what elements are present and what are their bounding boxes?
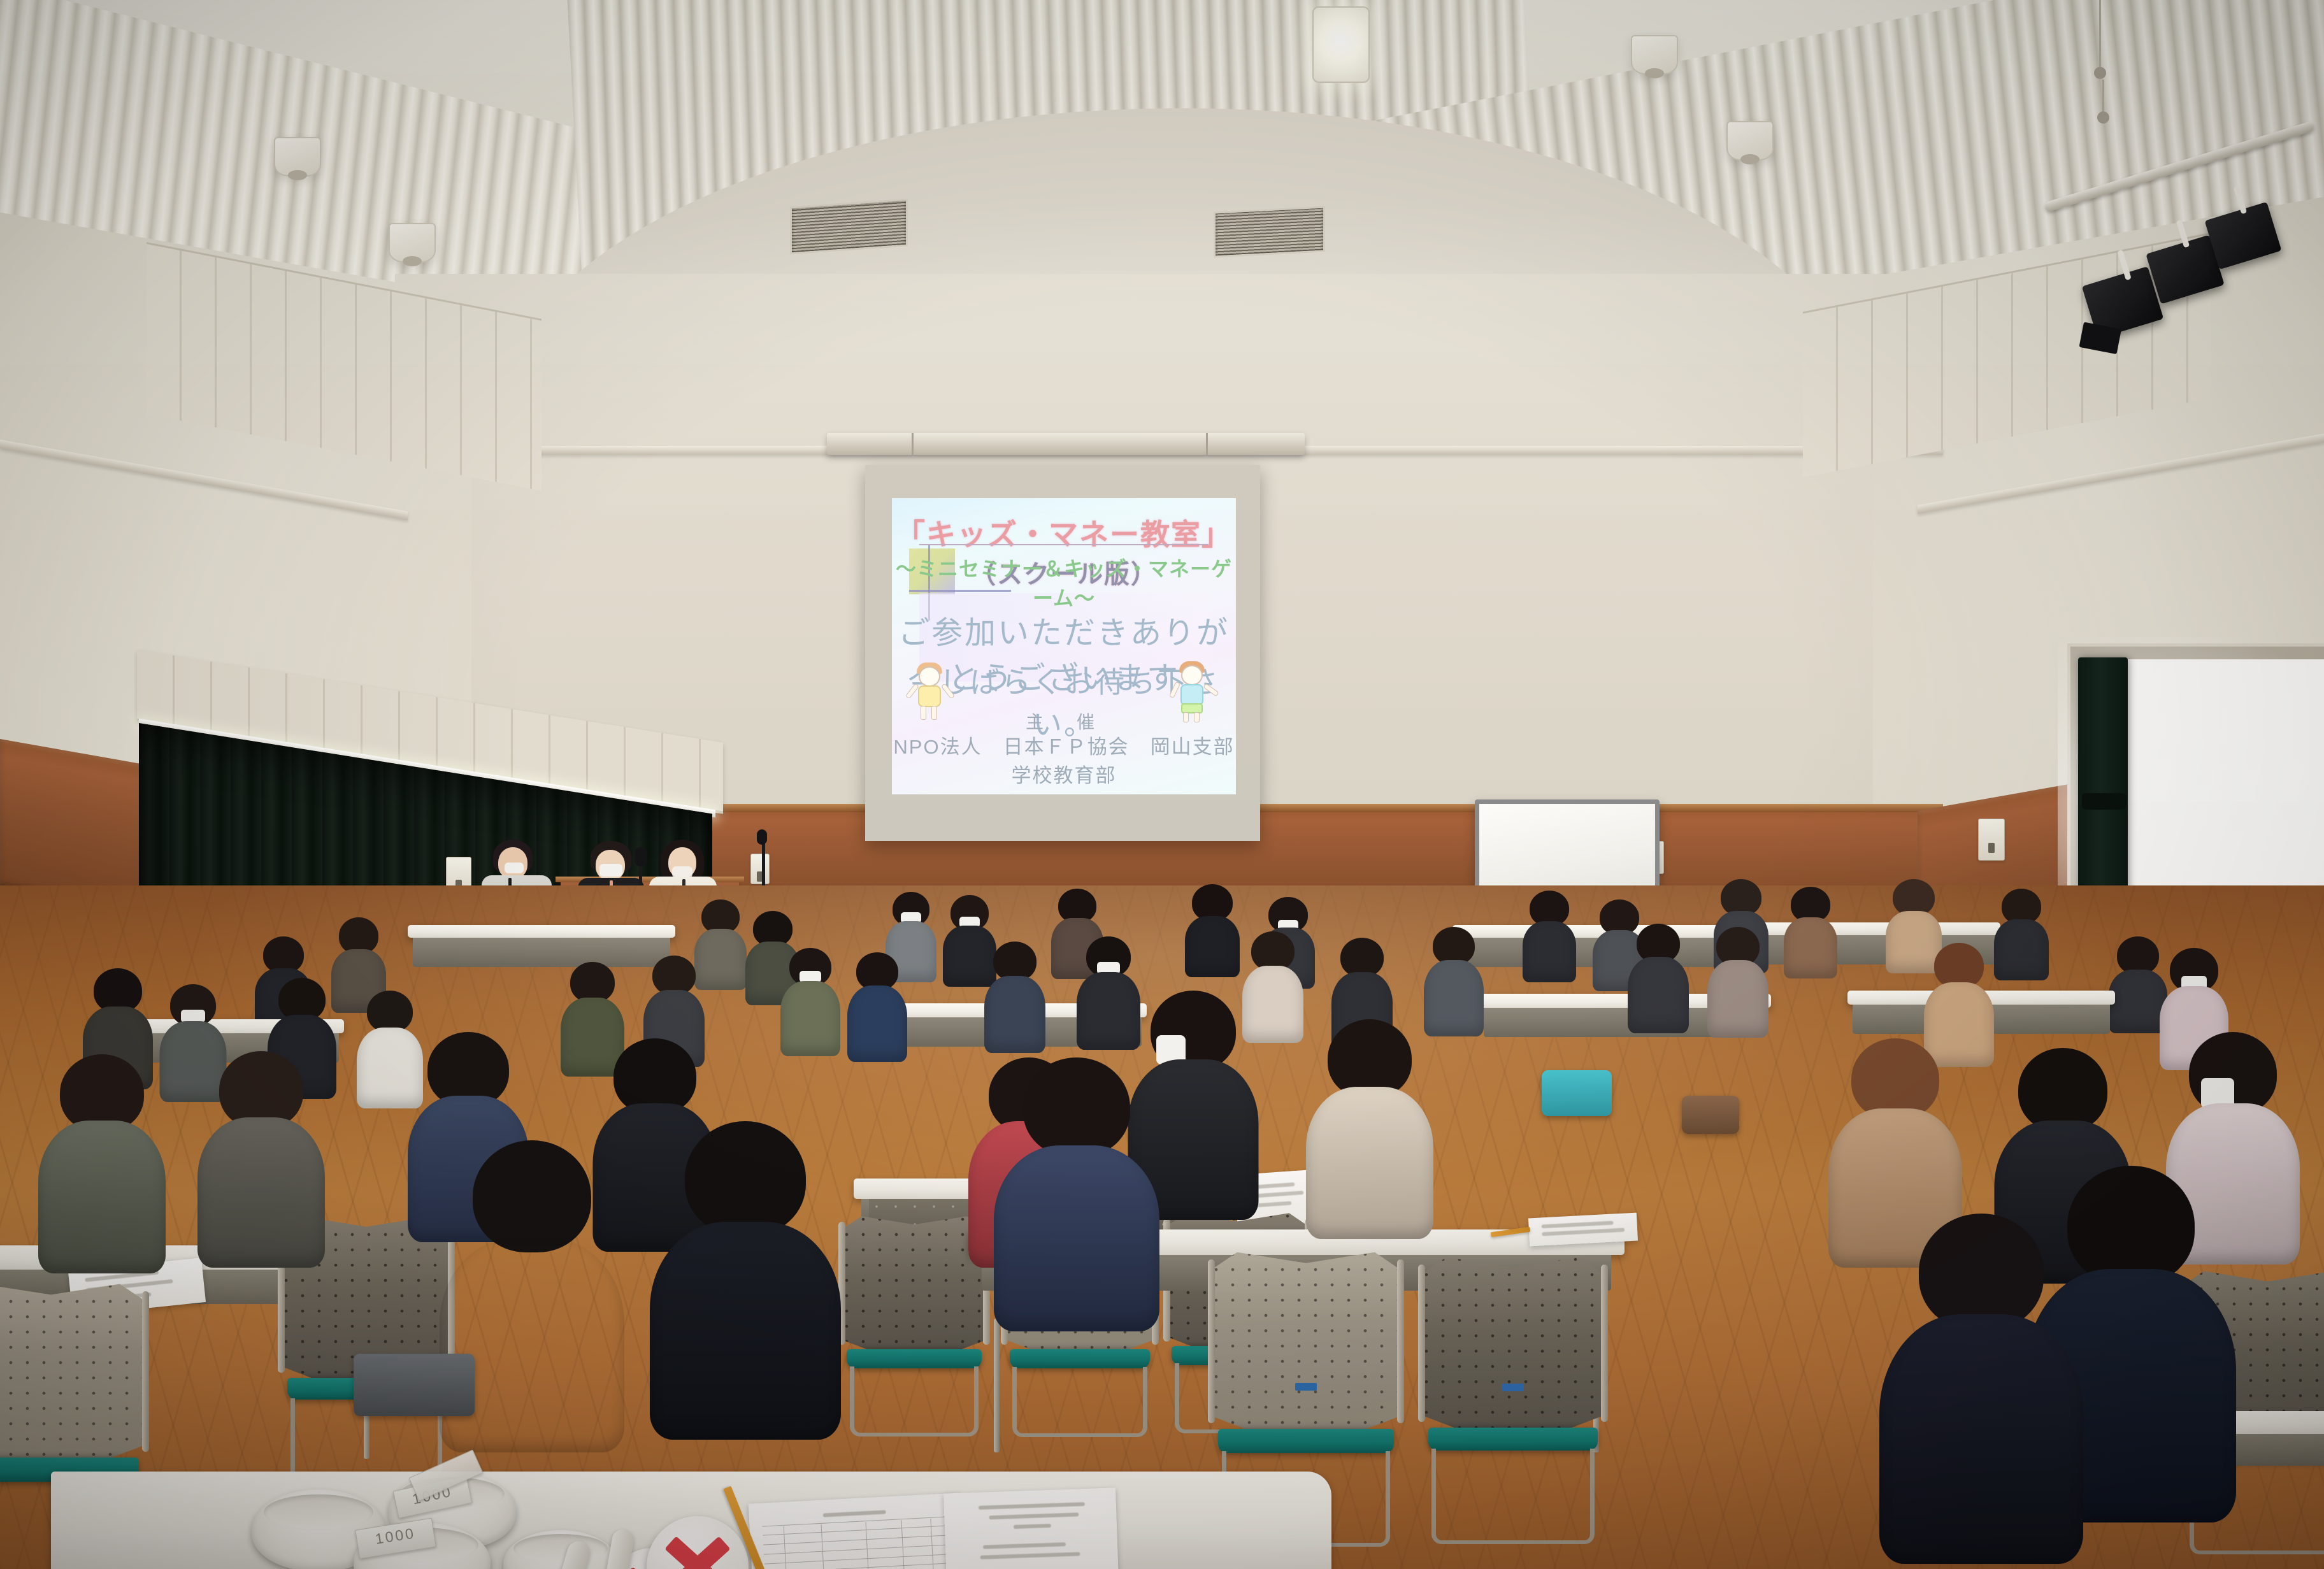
ceiling-hanger-rod <box>2102 80 2104 115</box>
slide-title-underline <box>919 544 1209 545</box>
face-mask <box>505 863 524 873</box>
curtain-tieback[interactable] <box>2082 793 2127 810</box>
slide-subtitle: ～ミニセミナー＆キッズ・マネーゲーム～ <box>892 553 1236 612</box>
chair[interactable] <box>1210 1249 1402 1430</box>
audience-member <box>994 1057 1159 1331</box>
audience-member <box>847 952 907 1062</box>
chair[interactable] <box>0 1280 147 1459</box>
bag <box>354 1354 475 1416</box>
microphone-stand <box>762 841 765 892</box>
bag <box>1682 1096 1739 1134</box>
ceiling-light-icon <box>1726 121 1774 161</box>
worksheet-ledger[interactable] <box>749 1493 966 1569</box>
audience-member <box>1185 884 1240 975</box>
bag <box>1542 1070 1612 1116</box>
audience-member <box>1306 1019 1433 1239</box>
seminar-table <box>408 925 675 938</box>
ceiling-light-icon <box>274 137 321 176</box>
worksheet-handout[interactable] <box>943 1487 1121 1569</box>
seminar-room-photo: 「キッズ・マネー教室」（スクール版） ～ミニセミナー＆キッズ・マネーゲーム～ ご… <box>0 0 2324 1569</box>
projection-screen: 「キッズ・マネー教室」（スクール版） ～ミニセミナー＆キッズ・マネーゲーム～ ご… <box>865 465 1260 841</box>
window-curtain[interactable] <box>2078 657 2128 899</box>
hvac-grille <box>1214 206 1325 257</box>
slide-host-organization: NPO法人 日本ＦＰ協会 岡山支部 学校教育部 <box>892 731 1236 788</box>
wall-plate[interactable] <box>750 854 770 884</box>
ceiling-light-icon <box>1312 6 1370 83</box>
hvac-grille <box>790 199 908 255</box>
audience-member <box>984 942 1045 1053</box>
audience-member <box>1784 887 1837 977</box>
microphone-icon <box>635 847 647 866</box>
audience-member <box>650 1121 841 1440</box>
microphone-icon <box>757 829 767 845</box>
whiteboard[interactable] <box>1475 799 1660 898</box>
ceiling-light-icon <box>389 223 436 262</box>
worksheet-ledger[interactable] <box>1528 1213 1638 1247</box>
audience-member <box>1994 889 2049 979</box>
audience-member <box>780 948 840 1056</box>
audience-member <box>1628 924 1689 1033</box>
audience-member <box>1879 1214 2083 1564</box>
chair[interactable] <box>841 1214 987 1350</box>
face-mask <box>599 864 622 877</box>
audience-member <box>2109 936 2167 1032</box>
audience-member <box>197 1051 325 1268</box>
projection-screen-rail <box>827 433 1305 455</box>
audience-member <box>1707 927 1768 1038</box>
slide-title-main: 「キッズ・マネー教室」 <box>896 518 1232 551</box>
audience-member <box>1523 891 1576 981</box>
ceiling-hanger-rod <box>2099 0 2101 70</box>
wall-plate[interactable] <box>1978 819 2005 861</box>
projected-slide: 「キッズ・マネー教室」（スクール版） ～ミニセミナー＆キッズ・マネーゲーム～ ご… <box>892 498 1236 794</box>
audience-member <box>38 1054 166 1274</box>
chair[interactable] <box>1421 1254 1605 1429</box>
ceiling-light-icon <box>1631 35 1678 75</box>
